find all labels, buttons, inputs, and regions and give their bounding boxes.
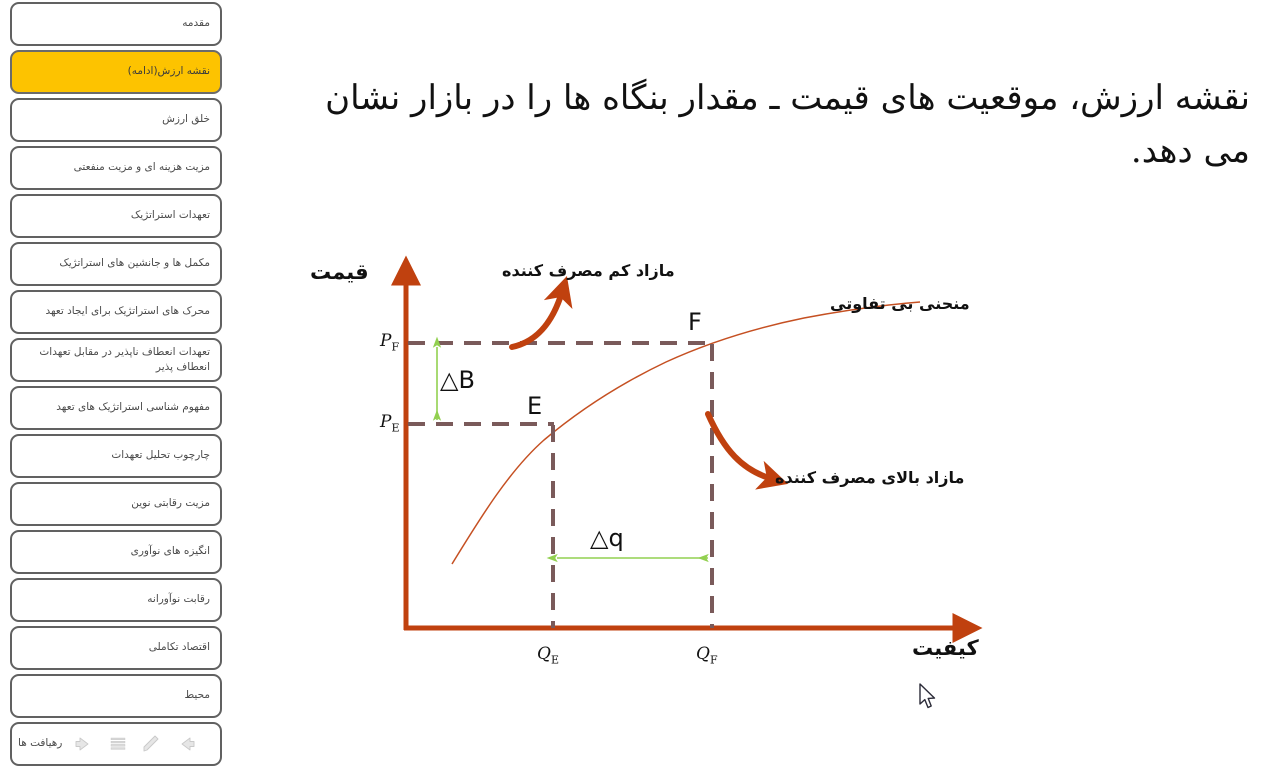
y-tick-pf: PF	[380, 331, 399, 353]
sidebar-item-label: رهیافت ها	[18, 736, 62, 751]
indifference-curve-path	[452, 302, 920, 564]
sidebar-item-11[interactable]: انگیزه های نوآوری	[10, 530, 222, 574]
sidebar-item-14[interactable]: محیط	[10, 674, 222, 718]
sidebar-item-label: مزیت رقابتی نوین	[18, 496, 210, 511]
sidebar-item-label: چارچوب تحلیل تعهدات	[18, 448, 210, 463]
sidebar-item-2[interactable]: خلق ارزش	[10, 98, 222, 142]
page-title: نقشه ارزش، موقعیت های قیمت ـ مقدار بنگاه…	[270, 72, 1250, 177]
x-tick-qe: QE	[537, 644, 559, 666]
sidebar-item-label: محرک های استراتژیک برای ایجاد تعهد	[18, 304, 210, 319]
x-axis-label: کیفیت	[912, 636, 979, 660]
sidebar-item-4[interactable]: تعهدات استراتژیک	[10, 194, 222, 238]
high-surplus-arrow	[708, 414, 772, 479]
b-delta-label: B△	[440, 366, 475, 394]
sidebar-item-label: تعهدات انعطاف ناپذیر در مقابل تعهدات انع…	[18, 345, 210, 375]
sidebar-item-1[interactable]: نقشه ارزش(ادامه)	[10, 50, 222, 94]
low-surplus-arrow	[512, 292, 562, 347]
forward-arrow-icon[interactable]	[74, 735, 94, 753]
sidebar-item-label: مزیت هزینه ای و مزیت منفعتی	[18, 160, 210, 175]
sidebar-item-15[interactable]: رهیافت ها	[10, 722, 222, 766]
sidebar-item-label: اقتصاد تکاملی	[18, 640, 210, 655]
sidebar-item-label: نقشه ارزش(ادامه)	[18, 64, 210, 79]
sidebar-item-5[interactable]: مکمل ها و جانشین های استراتژیک	[10, 242, 222, 286]
sidebar-item-7[interactable]: تعهدات انعطاف ناپذیر در مقابل تعهدات انع…	[10, 338, 222, 382]
sidebar-item-6[interactable]: محرک های استراتژیک برای ایجاد تعهد	[10, 290, 222, 334]
sidebar-item-9[interactable]: چارچوب تحلیل تعهدات	[10, 434, 222, 478]
q-delta-label: q△	[590, 524, 624, 552]
pencil-icon[interactable]	[142, 735, 162, 753]
back-arrow-icon[interactable]	[176, 735, 196, 753]
sidebar-item-label: رقابت نوآورانه	[18, 592, 210, 607]
sidebar-item-label: مکمل ها و جانشین های استراتژیک	[18, 256, 210, 271]
sidebar-item-0[interactable]: مقدمه	[10, 2, 222, 46]
indifference-curve-label: منحنی بی تفاوتی	[830, 294, 970, 313]
sidebar-item-label: خلق ارزش	[18, 112, 210, 127]
y-axis-label: قیمت	[310, 260, 369, 284]
low-consumer-surplus-label: مازاد کم مصرف کننده	[502, 261, 675, 280]
point-label-f: F	[688, 308, 702, 336]
mouse-cursor	[918, 683, 938, 711]
sidebar-item-label: انگیزه های نوآوری	[18, 544, 210, 559]
point-label-e: E	[527, 392, 542, 420]
sidebar-item-label: محیط	[18, 688, 210, 703]
sidebar-item-label: مقدمه	[18, 16, 210, 31]
sidebar-item-10[interactable]: مزیت رقابتی نوین	[10, 482, 222, 526]
sidebar: مقدمهنقشه ارزش(ادامه)خلق ارزشمزیت هزینه …	[0, 0, 232, 768]
sidebar-item-label: تعهدات استراتژیک	[18, 208, 210, 223]
high-consumer-surplus-label: مازاد بالای مصرف کننده	[775, 468, 964, 487]
sidebar-item-3[interactable]: مزیت هزینه ای و مزیت منفعتی	[10, 146, 222, 190]
sidebar-nav-icons	[68, 735, 196, 753]
sidebar-item-8[interactable]: مفهوم شناسی استراتژیک های تعهد	[10, 386, 222, 430]
sidebar-item-12[interactable]: رقابت نوآورانه	[10, 578, 222, 622]
list-icon[interactable]	[108, 735, 128, 753]
sidebar-item-label: مفهوم شناسی استراتژیک های تعهد	[18, 400, 210, 415]
y-tick-pe: PE	[380, 412, 399, 434]
sidebar-item-13[interactable]: اقتصاد تکاملی	[10, 626, 222, 670]
x-tick-qf: QF	[696, 644, 718, 666]
slide-canvas: نقشه ارزش، موقعیت های قیمت ـ مقدار بنگاه…	[232, 0, 1274, 768]
